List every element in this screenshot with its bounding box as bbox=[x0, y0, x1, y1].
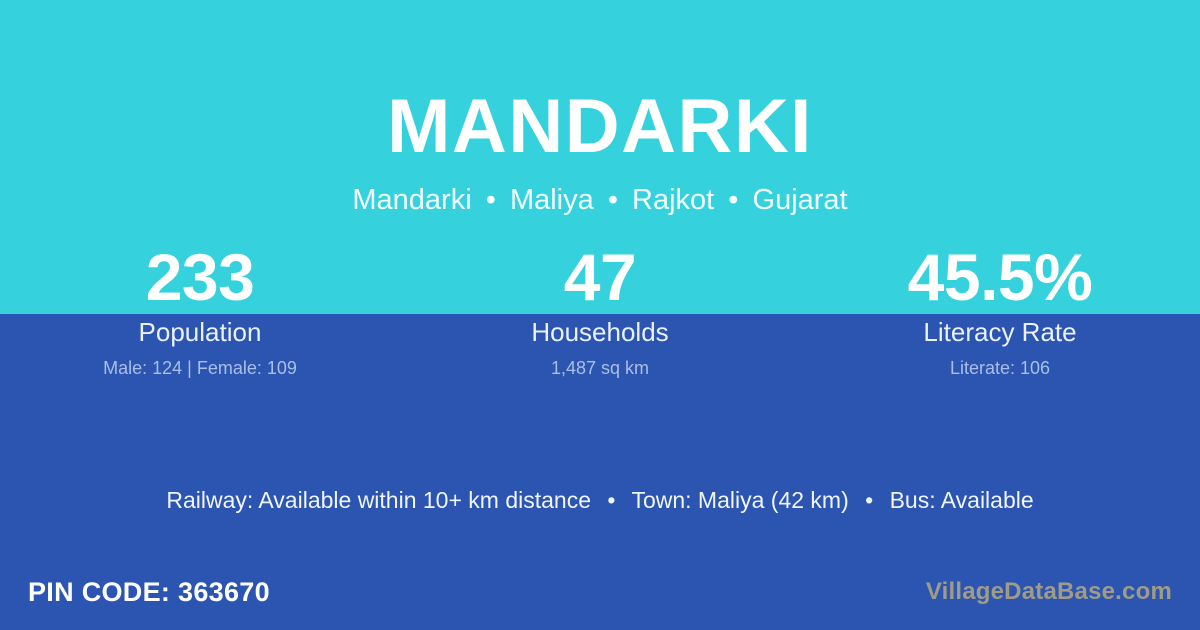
infrastructure-town: Town: Maliya (42 km) bbox=[631, 487, 848, 513]
site-brand-logo: VillageDataBase.com bbox=[926, 577, 1172, 607]
breadcrumb-state: Gujarat bbox=[753, 184, 848, 216]
stat-label: Households bbox=[400, 316, 800, 348]
pin-code: PIN CODE: 363670 bbox=[28, 575, 270, 609]
breadcrumb-separator-icon: • bbox=[602, 184, 624, 216]
stat-literacy-rate: 45.5% Literacy Rate Literate: 106 bbox=[800, 240, 1200, 380]
breadcrumb-separator-icon: • bbox=[480, 184, 502, 216]
infrastructure-summary: Railway: Available within 10+ km distanc… bbox=[0, 484, 1200, 516]
stat-population: 233 Population Male: 124 | Female: 109 bbox=[0, 240, 400, 380]
breadcrumb-block: Maliya bbox=[510, 184, 594, 216]
breadcrumb-village: Mandarki bbox=[352, 184, 471, 216]
card-footer: PIN CODE: 363670 VillageDataBase.com bbox=[0, 554, 1200, 630]
stat-value: 233 bbox=[0, 240, 400, 314]
stat-households: 47 Households 1,487 sq km bbox=[400, 240, 800, 380]
stat-label: Population bbox=[0, 316, 400, 348]
infrastructure-separator-icon: • bbox=[597, 487, 625, 513]
infrastructure-railway: Railway: Available within 10+ km distanc… bbox=[166, 487, 591, 513]
stat-sublabel: 1,487 sq km bbox=[400, 356, 800, 380]
infrastructure-bus: Bus: Available bbox=[890, 487, 1034, 513]
stat-label: Literacy Rate bbox=[800, 316, 1200, 348]
breadcrumb-district: Rajkot bbox=[632, 184, 714, 216]
infrastructure-separator-icon: • bbox=[855, 487, 883, 513]
stat-value: 47 bbox=[400, 240, 800, 314]
stats-row: 233 Population Male: 124 | Female: 109 4… bbox=[0, 240, 1200, 380]
stat-sublabel: Literate: 106 bbox=[800, 356, 1200, 380]
breadcrumb-separator-icon: • bbox=[722, 184, 744, 216]
stat-value: 45.5% bbox=[800, 240, 1200, 314]
breadcrumb: Mandarki • Maliya • Rajkot • Gujarat bbox=[0, 182, 1200, 218]
page-title: MANDARKI bbox=[0, 84, 1200, 170]
stat-sublabel: Male: 124 | Female: 109 bbox=[0, 356, 400, 380]
village-info-card: MANDARKI Mandarki • Maliya • Rajkot • Gu… bbox=[0, 0, 1200, 630]
